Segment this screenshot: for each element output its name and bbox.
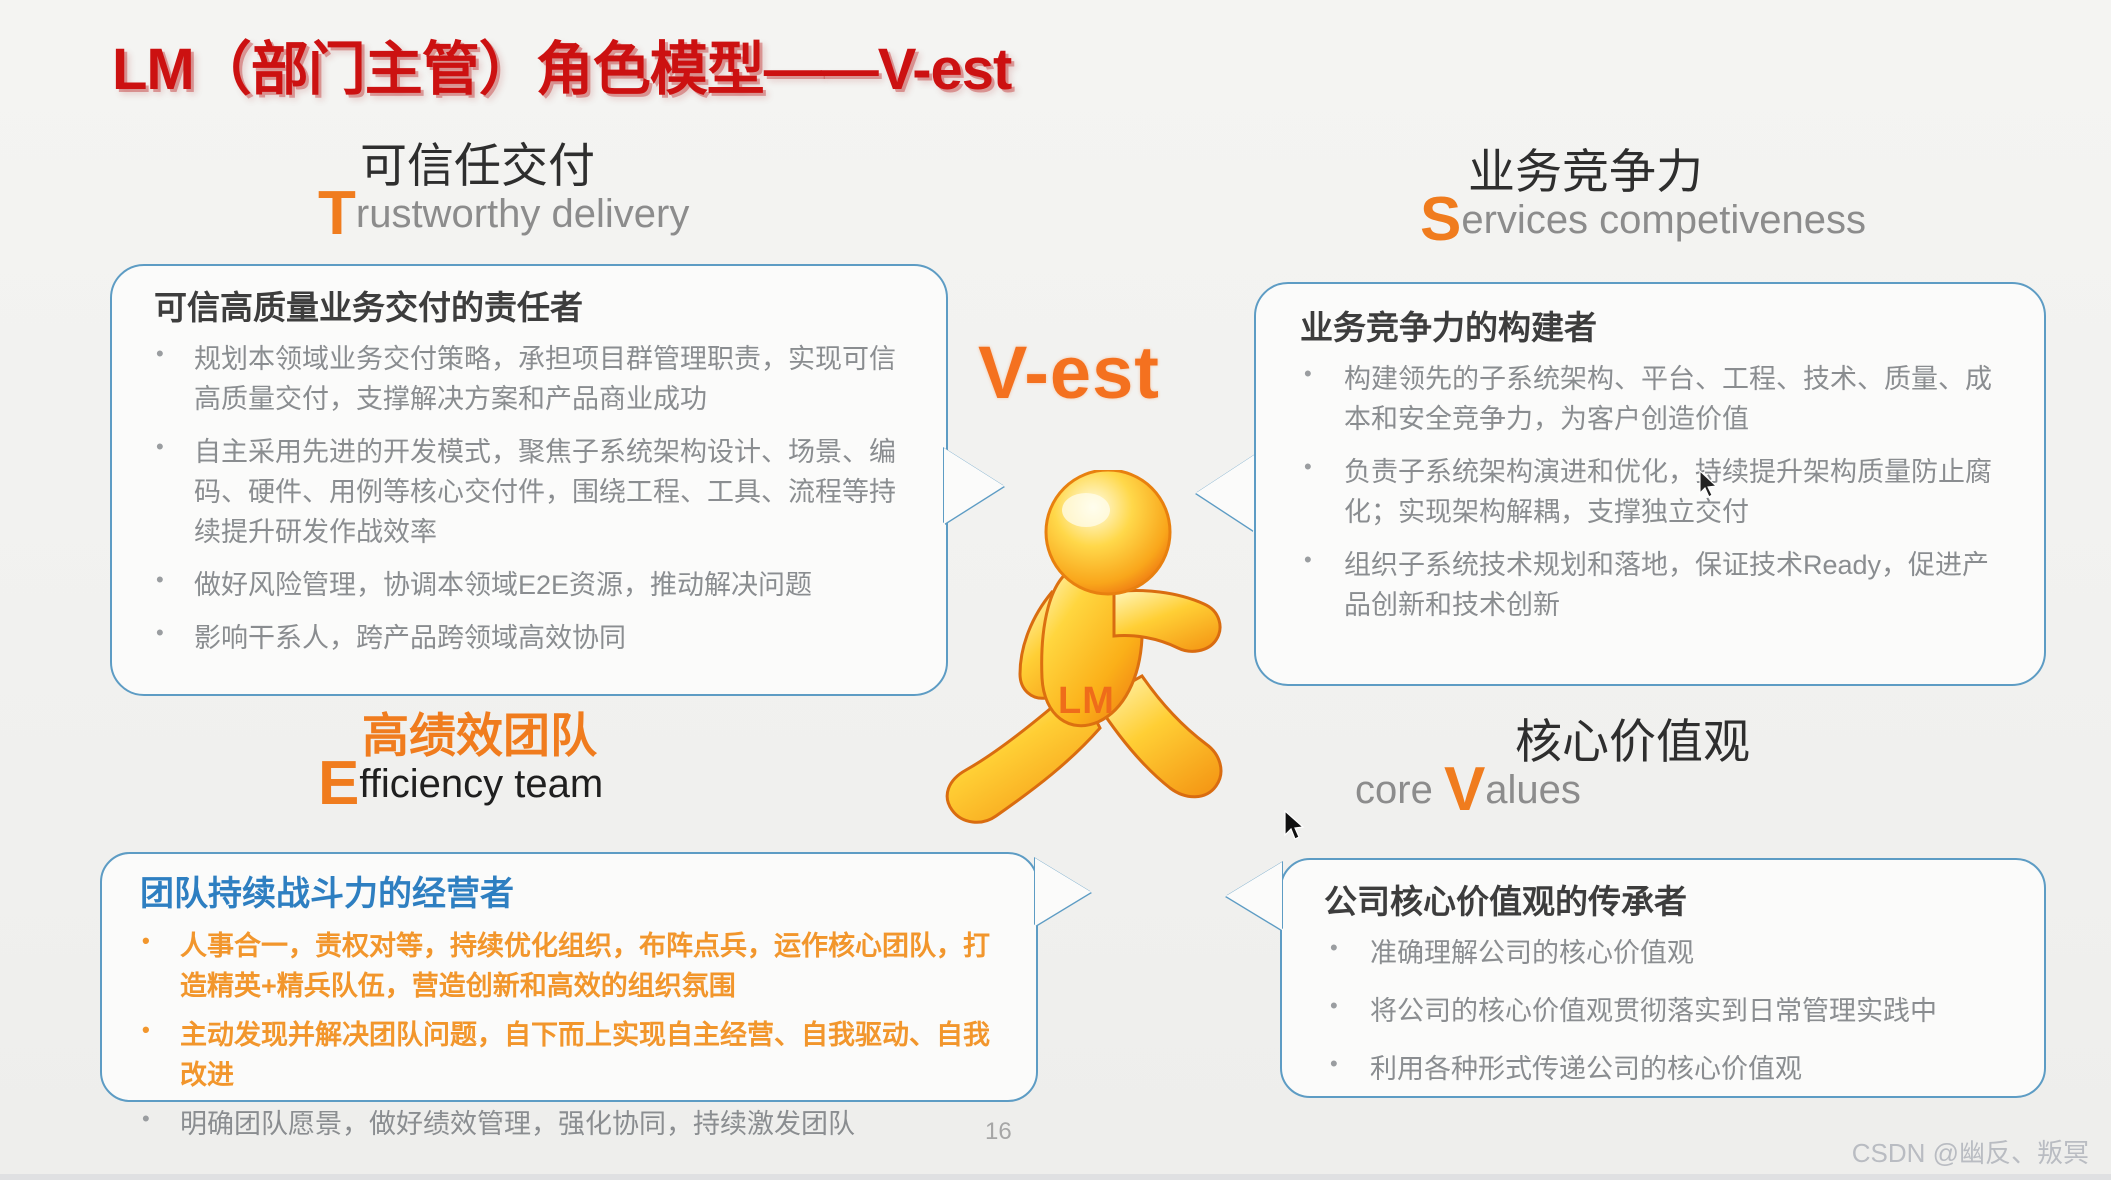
callout-heading-services: 业务竞争力的构建者: [1300, 310, 2010, 346]
quadrant-header-efficiency-team: 高绩效团队 Efficiency team: [318, 712, 603, 805]
callout-box-services-competiveness: 业务竞争力的构建者 构建领先的子系统架构、平台、工程、技术、质量、成本和安全竞争…: [1254, 282, 2046, 686]
page-title: LM（部门主管）角色模型——V-est: [112, 22, 1011, 106]
callout-tail-values: [1226, 862, 1282, 930]
mouse-pointer-icon: [1283, 810, 1305, 847]
slide-canvas: LM（部门主管）角色模型——V-est 可信任交付 Trustworthy de…: [0, 0, 2111, 1180]
quadrant-header-cn-values: 核心价值观: [1515, 718, 1750, 765]
quadrant-header-en-efficiency: Efficiency team: [318, 761, 603, 805]
callout-bullet-list-efficiency: 人事合一，责权对等，持续优化组织，布阵点兵，运作核心团队，打造精英+精兵队伍，营…: [128, 927, 1006, 1145]
list-item: 将公司的核心价值观贯彻落实到日常管理实践中: [1310, 992, 2014, 1032]
quadrant-header-en-rest-values: alues: [1485, 768, 1581, 812]
quadrant-header-en-services: Services competiveness: [1420, 197, 1866, 241]
list-item: 利用各种形式传递公司的核心价值观: [1310, 1050, 2014, 1090]
quadrant-header-en-trustworthy: Trustworthy delivery: [318, 191, 689, 235]
quadrant-header-core-values: 核心价值观 core Values: [1355, 718, 1750, 811]
callout-box-core-values: 公司核心价值观的传承者 准确理解公司的核心价值观 将公司的核心价值观贯彻落实到日…: [1280, 858, 2046, 1098]
callout-bullet-list-values: 准确理解公司的核心价值观 将公司的核心价值观贯彻落实到日常管理实践中 利用各种形…: [1310, 934, 2014, 1090]
list-item: 负责子系统架构演进和优化，持续提升架构质量防止腐化；实现架构解耦，支撑独立交付: [1286, 453, 2010, 533]
callout-heading-trustworthy: 可信高质量业务交付的责任者: [154, 290, 916, 326]
quadrant-header-en-rest-efficiency: fficiency team: [359, 762, 603, 806]
list-item: 规划本领域业务交付策略，承担项目群管理职责，实现可信高质量交付，支撑解决方案和产…: [142, 340, 916, 420]
center-acronym-vest: V-est: [978, 330, 1160, 415]
quadrant-header-services-competiveness: 业务竞争力 Services competiveness: [1420, 148, 1866, 241]
acronym-letter-s: S: [1420, 185, 1461, 254]
callout-tail-efficiency: [1035, 858, 1091, 926]
list-item: 组织子系统技术规划和落地，保证技术Ready，促进产品创新和技术创新: [1286, 546, 2010, 626]
mouse-pointer-icon-secondary: [1698, 470, 1718, 505]
callout-heading-efficiency: 团队持续战斗力的经营者: [140, 876, 1006, 913]
callout-box-efficiency-team: 团队持续战斗力的经营者 人事合一，责权对等，持续优化组织，布阵点兵，运作核心团队…: [100, 852, 1038, 1102]
callout-box-trustworthy-delivery: 可信高质量业务交付的责任者 规划本领域业务交付策略，承担项目群管理职责，实现可信…: [110, 264, 948, 696]
bottom-bar: [0, 1174, 2111, 1180]
list-item: 做好风险管理，协调本领域E2E资源，推动解决问题: [142, 566, 916, 606]
quadrant-header-cn-efficiency: 高绩效团队: [362, 712, 603, 759]
quadrant-header-en-pre-values: core: [1355, 768, 1444, 812]
list-item: 明确团队愿景，做好绩效管理，强化协同，持续激发团队: [128, 1105, 1006, 1145]
quadrant-header-cn-trustworthy: 可信任交付: [360, 142, 689, 189]
quadrant-header-en-rest-trustworthy: rustworthy delivery: [356, 192, 689, 236]
center-figure-label-lm: LM: [1058, 680, 1115, 723]
callout-bullet-list-trustworthy: 规划本领域业务交付策略，承担项目群管理职责，实现可信高质量交付，支撑解决方案和产…: [142, 340, 916, 659]
quadrant-header-en-rest-services: ervices competiveness: [1461, 198, 1866, 242]
list-item: 人事合一，责权对等，持续优化组织，布阵点兵，运作核心团队，打造精英+精兵队伍，营…: [128, 927, 1006, 1007]
acronym-letter-t: T: [318, 179, 356, 248]
watermark-text: CSDN @幽反、叛冥: [1852, 1133, 2089, 1170]
quadrant-header-trustworthy-delivery: 可信任交付 Trustworthy delivery: [318, 142, 689, 235]
running-person-icon: [928, 470, 1258, 850]
quadrant-header-cn-services: 业务竞争力: [1468, 148, 1866, 195]
callout-heading-values: 公司核心价值观的传承者: [1324, 884, 2014, 920]
quadrant-header-en-values: core Values: [1355, 767, 1750, 811]
acronym-letter-v: V: [1444, 755, 1485, 824]
list-item: 自主采用先进的开发模式，聚焦子系统架构设计、场景、编码、硬件、用例等核心交付件，…: [142, 433, 916, 553]
list-item: 准确理解公司的核心价值观: [1310, 934, 2014, 974]
list-item: 构建领先的子系统架构、平台、工程、技术、质量、成本和安全竞争力，为客户创造价值: [1286, 360, 2010, 440]
list-item: 主动发现并解决团队问题，自下而上实现自主经营、自我驱动、自我改进: [128, 1016, 1006, 1096]
list-item: 影响干系人，跨产品跨领域高效协同: [142, 619, 916, 659]
acronym-letter-e: E: [318, 749, 359, 818]
callout-bullet-list-services: 构建领先的子系统架构、平台、工程、技术、质量、成本和安全竞争力，为客户创造价值 …: [1286, 360, 2010, 626]
page-number: 16: [985, 1118, 1012, 1146]
